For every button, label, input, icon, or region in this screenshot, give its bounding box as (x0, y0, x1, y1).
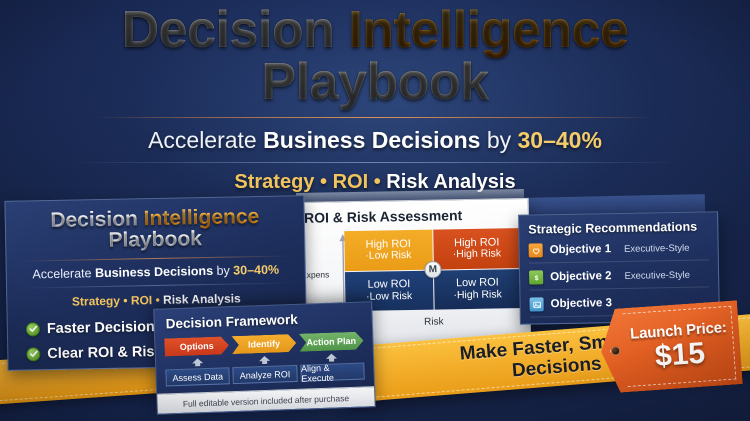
hero-header: Decision Intelligence Playbook Accelerat… (0, 0, 750, 219)
quadrant-line-2: ·Low Risk (366, 291, 412, 304)
hero-sub1-a: Accelerate (148, 127, 263, 153)
hero-topic-dot-1: • (320, 171, 327, 193)
framework-footer-note: Full editable version included after pur… (153, 386, 376, 414)
left-panel-divider-gold (22, 255, 290, 261)
hero-divider-gold (95, 117, 655, 118)
roi-quadrant-top-left: High ROI ·Low Risk (344, 230, 432, 271)
check-circle-icon (26, 322, 40, 336)
left-panel-topic-risk-analysis: Risk Analysis (163, 291, 241, 306)
framework-step-action-plan: Action Plan (299, 332, 364, 352)
hero-sub1-c: by (480, 127, 517, 153)
roi-card-title: ROI & Risk Assessment (300, 206, 520, 226)
up-arrow-icon (232, 355, 297, 365)
left-panel-topic-dot-1: • (123, 293, 127, 307)
hero-subtitle-accelerate: Accelerate Business Decisions by 30–40% (0, 127, 750, 154)
dollar-badge-icon: $ (529, 270, 543, 284)
main-title-playbook: Playbook (261, 53, 488, 111)
roi-matrix: High ROI ·Low Risk High ROI ·High Risk L… (344, 228, 521, 311)
left-panel-topic-dot-2: • (155, 293, 159, 307)
hero-sub1-b: Business Decisions (263, 127, 480, 153)
left-panel-topic-roi: ROI (131, 293, 153, 307)
objective-value: Executive-Style (624, 242, 690, 254)
framework-step-options: Options (164, 336, 229, 356)
left-panel-sub1-a: Accelerate (32, 266, 95, 281)
shield-heart-icon (529, 243, 543, 257)
roi-matrix-wrapper: Expens High ROI ·Low Risk High ROI ·High… (300, 228, 521, 312)
hero-sub1-percent: 30–40% (518, 127, 602, 153)
bullet-label: Faster Decisions (47, 319, 163, 337)
hero-topic-dot-2: • (374, 171, 381, 193)
left-panel-subtitle: Accelerate Business Decisions by 30–40% (17, 262, 295, 281)
bullet-label: Clear ROI & Risk (47, 344, 163, 362)
hero-topic-strategy: Strategy (234, 171, 314, 193)
objective-value: Executive-Style (624, 269, 690, 281)
strategic-card-title: Strategic Recommendations (528, 219, 708, 236)
left-panel-title-playbook: Playbook (108, 228, 202, 253)
framework-step-identify: Identify (232, 334, 297, 354)
image-badge-icon (530, 297, 544, 311)
main-title-line-2: Playbook (0, 58, 750, 108)
roi-quadrant-bottom-right: Low ROI ·High Risk (433, 269, 521, 310)
price-tag-text: Launch Price: $15 (598, 300, 743, 393)
hero-divider-soft (70, 162, 680, 163)
framework-substep-analyze-roi: Analyze ROI (233, 365, 298, 384)
hero-topic-roi: ROI (333, 171, 369, 193)
left-panel-topic-strategy: Strategy (72, 294, 120, 309)
table-row: $ Objective 2 Executive-Style (529, 267, 709, 290)
framework-card-title: Decision Framework (163, 310, 362, 332)
framework-substep-align-execute: Align & Execute (300, 363, 365, 382)
left-panel-sub1-b: Business Decisions (95, 264, 213, 280)
main-title-line-1: Decision Intelligence (0, 6, 750, 56)
objective-label: Objective 3 (551, 297, 613, 310)
hero-topics: Strategy • ROI • Risk Analysis (0, 171, 750, 194)
left-panel-sub1-percent: 30–40% (233, 262, 279, 277)
table-row: Objective 1 Executive-Style (529, 240, 709, 263)
roi-quadrant-top-right: High ROI ·High Risk (433, 228, 521, 269)
quadrant-line-2: ·Low Risk (365, 250, 411, 263)
objective-label: Objective 1 (550, 243, 612, 256)
framework-substep-assess-data: Assess Data (165, 367, 230, 386)
up-arrow-icon (165, 357, 230, 367)
left-panel-divider-soft (20, 282, 292, 288)
left-panel-title-intelligence: Intelligence (143, 205, 259, 230)
svg-text:$: $ (534, 275, 538, 282)
launch-price-tag[interactable]: Launch Price: $15 (598, 300, 743, 393)
promo-banner-canvas: Decision Intelligence Playbook Accelerat… (0, 0, 750, 421)
objective-label: Objective 2 (550, 270, 612, 283)
main-title-intelligence: Intelligence (348, 1, 628, 59)
decision-framework-slide[interactable]: Decision Framework Options Identify Acti… (153, 301, 376, 415)
main-title-decision: Decision (122, 1, 349, 59)
check-circle-icon (26, 347, 40, 361)
quadrant-line-2: ·High Risk (453, 248, 502, 261)
left-panel-sub1-c: by (213, 263, 233, 277)
quadrant-line-2: ·High Risk (453, 289, 502, 302)
price-tag-amount: $15 (654, 339, 706, 372)
